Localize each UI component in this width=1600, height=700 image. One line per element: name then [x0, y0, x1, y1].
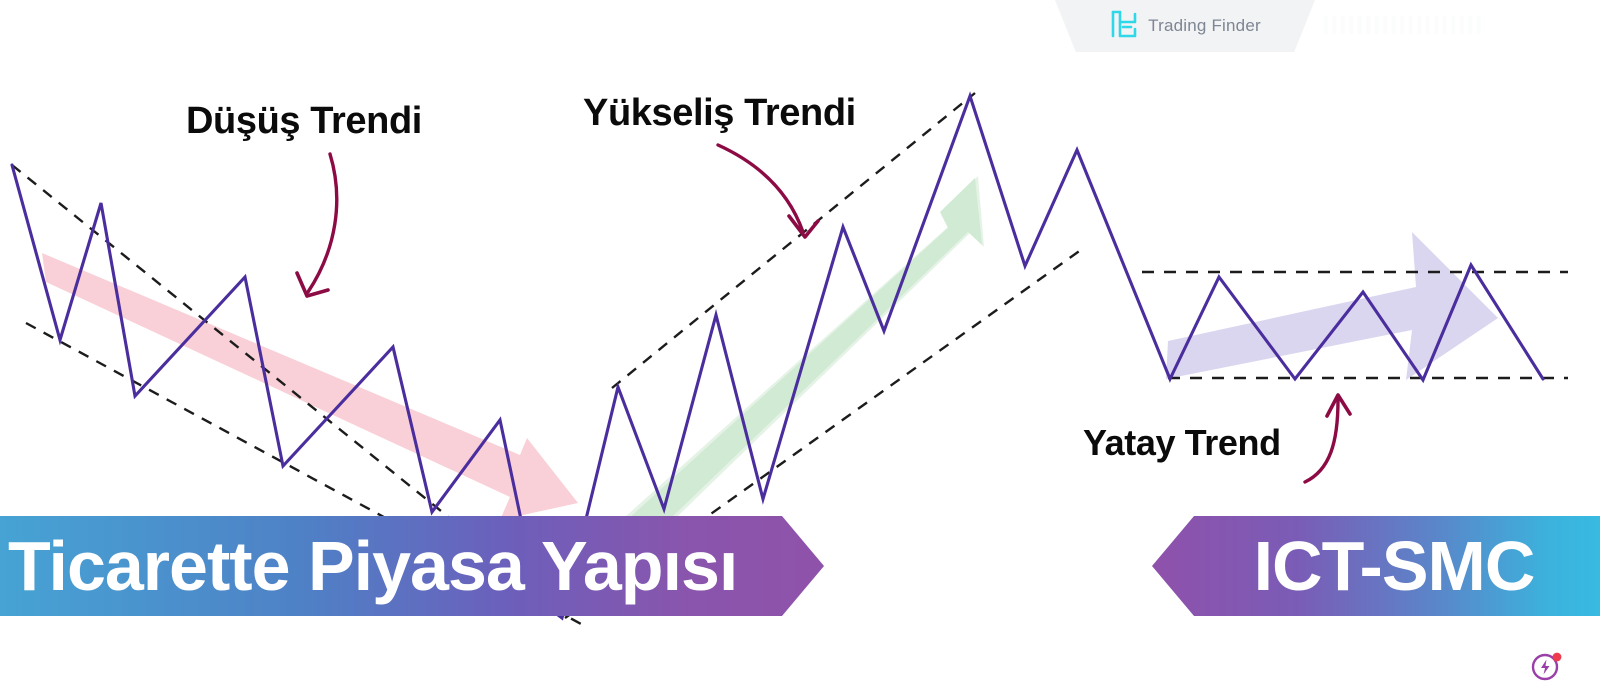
uptrend-upper-line	[612, 93, 975, 388]
sideways-arrow-shape	[1166, 232, 1498, 380]
sideways-pointer-arrow	[1305, 395, 1350, 482]
title-banner-left: Ticarette Piyasa Yapısı	[0, 516, 824, 616]
label-sideways: Yatay Trend	[1083, 422, 1281, 464]
label-downtrend: Düşüş Trendi	[186, 100, 422, 143]
uptrend-pointer-arrow	[718, 145, 818, 237]
title-banner-left-text: Ticarette Piyasa Yapısı	[8, 531, 737, 601]
notification-dot-icon	[1553, 653, 1562, 662]
downtrend-arrow-shape	[42, 253, 578, 520]
downtrend-pointer-arrow	[297, 154, 337, 296]
title-banner-right: ICT-SMC	[1152, 516, 1600, 616]
title-banner-right-text: ICT-SMC	[1254, 531, 1535, 601]
infographic-canvas: IIIIIIIIIIIIIIIIIII Trading Finder	[0, 0, 1600, 700]
lightning-badge[interactable]	[1530, 648, 1564, 682]
label-uptrend: Yükseliş Trendi	[583, 92, 856, 135]
lightning-bolt-icon	[1541, 660, 1550, 675]
